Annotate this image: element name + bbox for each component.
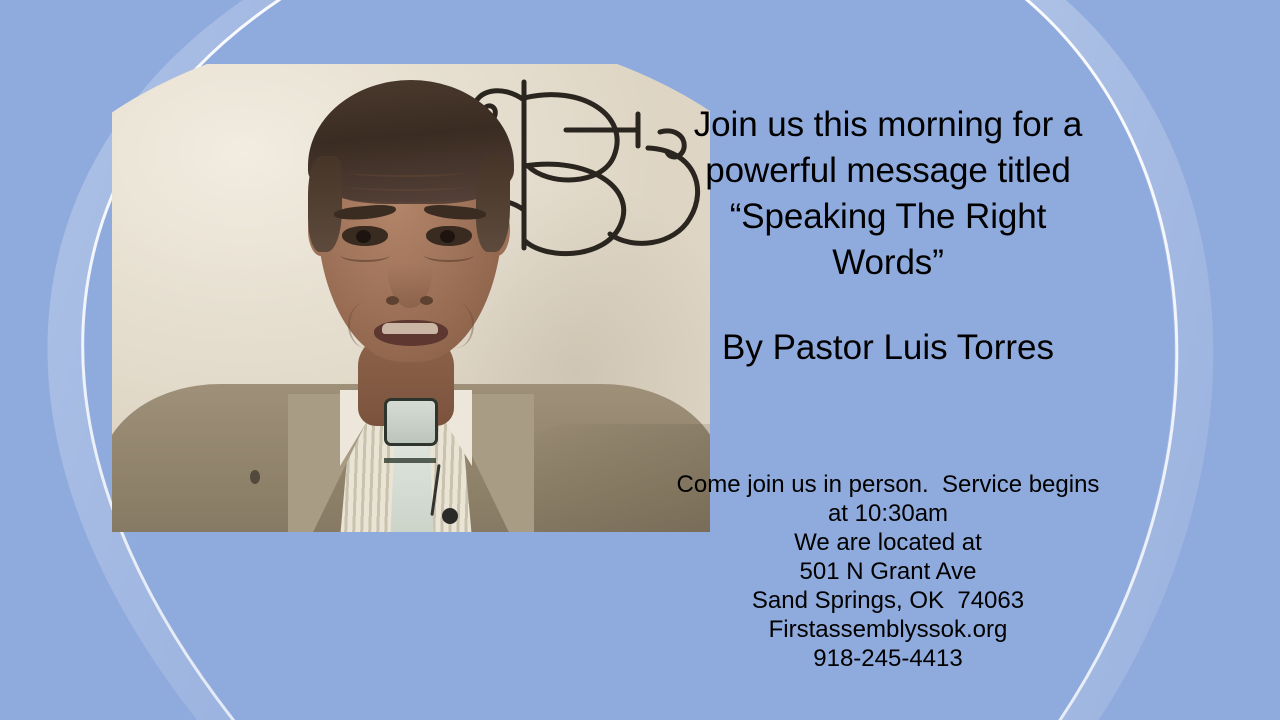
forehead-line <box>348 195 466 204</box>
lapel-microphone-icon <box>442 508 458 524</box>
pastor-portrait-photo <box>112 64 710 532</box>
nostril-right <box>420 296 433 305</box>
forehead-line <box>348 168 466 177</box>
headline-line-1: Join us this morning for a <box>672 102 1104 148</box>
eye-right <box>426 226 472 246</box>
details-line-website: Firstassemblyssok.org <box>672 615 1104 644</box>
details-line-city-state-zip: Sand Springs, OK 74063 <box>672 586 1104 615</box>
lapel-detail <box>250 470 260 484</box>
necktie-stripe <box>384 458 436 463</box>
presentation-slide: Join us this morning for a powerful mess… <box>0 0 1280 720</box>
forehead-line <box>348 182 466 191</box>
photo-oval-mask <box>112 64 710 532</box>
service-details-block: Come join us in person. Service begins a… <box>672 470 1104 673</box>
details-line-invitation: Come join us in person. Service begins <box>672 470 1104 499</box>
details-line-time: at 10:30am <box>672 499 1104 528</box>
headline-line-2: powerful message titled <box>672 148 1104 194</box>
speaker-byline: By Pastor Luis Torres <box>672 327 1104 369</box>
details-line-street-address: 501 N Grant Ave <box>672 557 1104 586</box>
necktie <box>388 438 436 532</box>
person-figure <box>112 64 710 532</box>
eye-left <box>342 226 388 246</box>
under-eye-line-left <box>340 248 390 262</box>
headline-line-3: “Speaking The Right <box>672 194 1104 240</box>
hair-sideburn-right <box>476 156 510 252</box>
headline-block: Join us this morning for a powerful mess… <box>672 102 1104 286</box>
nostril-left <box>386 296 399 305</box>
necktie-knot <box>384 398 438 446</box>
details-line-phone: 918-245-4413 <box>672 644 1104 673</box>
headline-line-4: Words” <box>672 240 1104 286</box>
teeth <box>382 323 438 334</box>
hair-sideburn-left <box>308 156 342 252</box>
photo-content <box>112 64 710 532</box>
details-line-located-at: We are located at <box>672 528 1104 557</box>
